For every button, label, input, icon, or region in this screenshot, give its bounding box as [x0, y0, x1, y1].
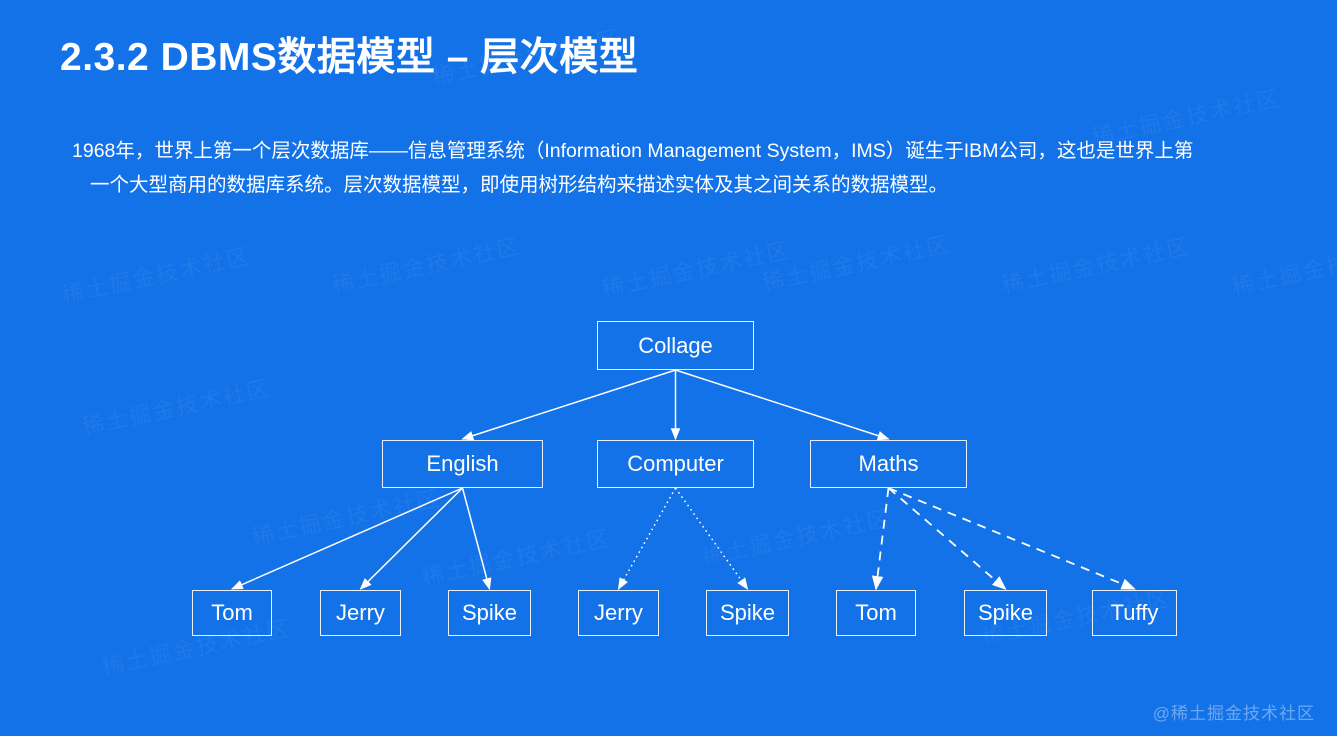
tree-node-label: Tom: [855, 600, 897, 626]
tree-node-label: Spike: [978, 600, 1033, 626]
tree-edge-maths-tom2: [876, 488, 889, 589]
tree-node-english: English: [382, 440, 543, 488]
tree-edge-computer-jerry2: [619, 488, 676, 589]
tree-edge-maths-spike3: [889, 488, 1006, 589]
tree-edge-english-jerry1: [361, 488, 463, 589]
footer-watermark: @稀土掘金技术社区: [1153, 699, 1315, 724]
tree-node-label: Collage: [638, 333, 713, 359]
tree-edge-collage-maths: [676, 370, 889, 439]
tree-node-tom2: Tom: [836, 590, 916, 636]
tree-node-label: Spike: [720, 600, 775, 626]
body-line-1: 1968年，世界上第一个层次数据库——信息管理系统（Information Ma…: [72, 140, 1193, 162]
tree-node-label: Computer: [627, 451, 724, 477]
tree-node-label: Jerry: [336, 600, 385, 626]
tree-node-label: English: [426, 451, 498, 477]
tree-node-label: Jerry: [594, 600, 643, 626]
tree-edge-collage-english: [463, 370, 676, 439]
tree-edge-english-spike1: [463, 488, 490, 589]
tree-node-maths: Maths: [810, 440, 967, 488]
tree-node-tom1: Tom: [192, 590, 272, 636]
tree-node-jerry1: Jerry: [320, 590, 401, 636]
slide-canvas: 稀土掘金技术社区 稀土掘金技术社区 稀土掘金技术社区 稀土掘金技术社区 稀土掘金…: [0, 0, 1337, 736]
tree-node-computer: Computer: [597, 440, 754, 488]
tree-node-collage: Collage: [597, 321, 754, 370]
tree-edge-computer-spike2: [676, 488, 748, 589]
body-line-2: 一个大型商用的数据库系统。层次数据模型，即使用树形结构来描述实体及其之间关系的数…: [90, 168, 1268, 202]
body-paragraph: 1968年，世界上第一个层次数据库——信息管理系统（Information Ma…: [72, 134, 1268, 202]
tree-node-spike2: Spike: [706, 590, 789, 636]
tree-node-label: Spike: [462, 600, 517, 626]
tree-node-label: Tuffy: [1111, 600, 1159, 626]
tree-edge-english-tom1: [232, 488, 463, 589]
tree-node-spike1: Spike: [448, 590, 531, 636]
tree-edge-maths-tuffy: [889, 488, 1135, 589]
tree-node-jerry2: Jerry: [578, 590, 659, 636]
tree-node-label: Tom: [211, 600, 253, 626]
tree-node-label: Maths: [859, 451, 919, 477]
tree-node-spike3: Spike: [964, 590, 1047, 636]
tree-node-tuffy: Tuffy: [1092, 590, 1177, 636]
page-title: 2.3.2 DBMS数据模型 – 层次模型: [60, 26, 638, 82]
